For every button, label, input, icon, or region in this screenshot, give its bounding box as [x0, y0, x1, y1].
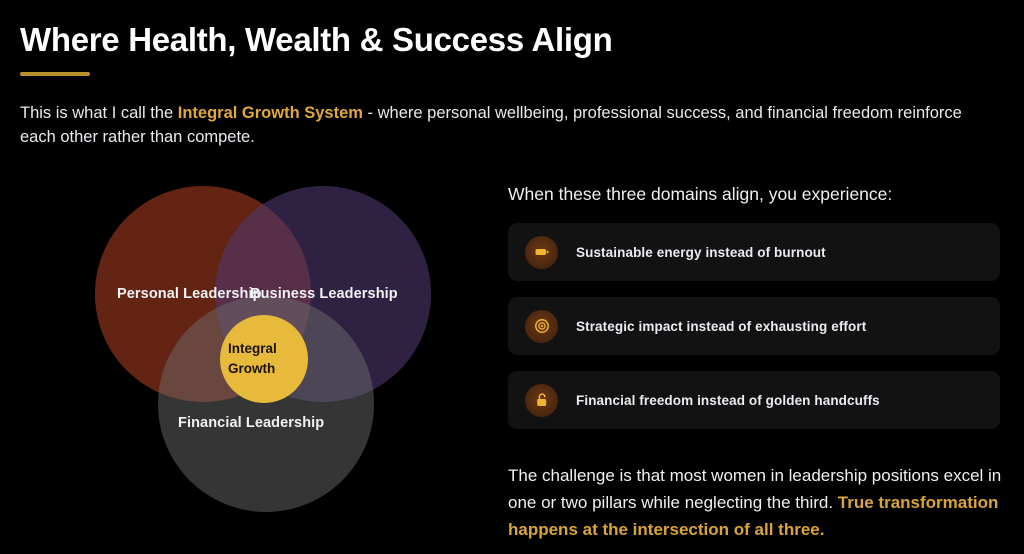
title-accent-bar	[20, 72, 90, 76]
page-title: Where Health, Wealth & Success Align	[20, 22, 1000, 59]
intro-paragraph: This is what I call the Integral Growth …	[20, 101, 985, 149]
battery-icon	[525, 236, 558, 269]
venn-stage: Integral Growth Personal Leadership Busi…	[60, 176, 480, 554]
venn-diagram: Integral Growth Personal Leadership Busi…	[60, 176, 480, 554]
benefits-heading: When these three domains align, you expe…	[508, 182, 1000, 206]
venn-center-integral-growth: Integral Growth	[220, 315, 308, 403]
benefits-panel: When these three domains align, you expe…	[508, 182, 1000, 445]
header: Where Health, Wealth & Success Align	[20, 22, 1000, 76]
venn-center-line-2: Growth	[220, 359, 308, 379]
venn-label-personal-leadership: Personal Leadership	[117, 286, 262, 302]
benefit-card-strategic-impact[interactable]: Strategic impact instead of exhausting e…	[508, 297, 1000, 355]
benefit-label: Financial freedom instead of golden hand…	[576, 393, 880, 408]
venn-label-business-leadership: Business Leadership	[250, 286, 398, 302]
intro-text-before: This is what I call the	[20, 104, 178, 122]
benefit-card-sustainable-energy[interactable]: Sustainable energy instead of burnout	[508, 223, 1000, 281]
intro-highlight-term: Integral Growth System	[178, 104, 363, 122]
benefit-label: Sustainable energy instead of burnout	[576, 245, 826, 260]
venn-center-line-1: Integral	[220, 339, 308, 359]
closing-paragraph: The challenge is that most women in lead…	[508, 462, 1008, 543]
target-icon	[525, 310, 558, 343]
benefit-label: Strategic impact instead of exhausting e…	[576, 319, 866, 334]
benefit-card-financial-freedom[interactable]: Financial freedom instead of golden hand…	[508, 371, 1000, 429]
slide-root: Where Health, Wealth & Success Align Thi…	[0, 0, 1024, 554]
venn-label-financial-leadership: Financial Leadership	[178, 415, 324, 431]
unlock-icon	[525, 384, 558, 417]
